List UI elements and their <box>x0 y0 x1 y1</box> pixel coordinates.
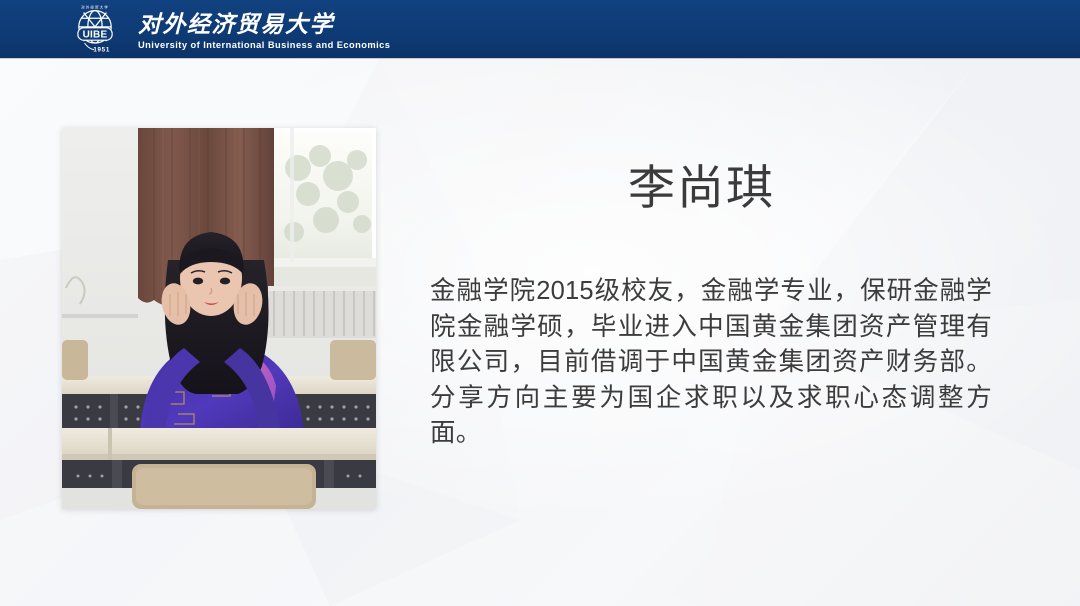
uibe-globe-logo-icon: 对外经贸大学 UIBE 1951 <box>66 4 124 54</box>
alumni-portrait-photo <box>62 128 376 509</box>
svg-text:1951: 1951 <box>93 47 110 54</box>
brand-text-stack: 对外经济贸易大学 University of International Bus… <box>138 4 390 54</box>
portrait-illustration <box>62 128 376 509</box>
university-header-bar: 对外经贸大学 UIBE 1951 对外经济贸易大学 University of … <box>0 0 1080 58</box>
university-name-cn-calligraphy: 对外经济贸易大学 <box>138 9 388 39</box>
alumni-name: 李尚琪 <box>628 162 775 215</box>
university-name-cn-text: 对外经济贸易大学 <box>138 11 336 37</box>
svg-text:对外经贸大学: 对外经贸大学 <box>81 4 109 9</box>
alumni-bio: 金融学院2015级校友，金融学专业，保研金融学院金融学硕，毕业进入中国黄金集团资… <box>430 274 992 452</box>
presentation-slide: 对外经贸大学 UIBE 1951 对外经济贸易大学 University of … <box>0 0 1080 606</box>
svg-text:UIBE: UIBE <box>83 29 108 40</box>
university-name-en: University of International Business and… <box>138 40 390 50</box>
header-brand-group: 对外经贸大学 UIBE 1951 对外经济贸易大学 University of … <box>66 0 390 58</box>
